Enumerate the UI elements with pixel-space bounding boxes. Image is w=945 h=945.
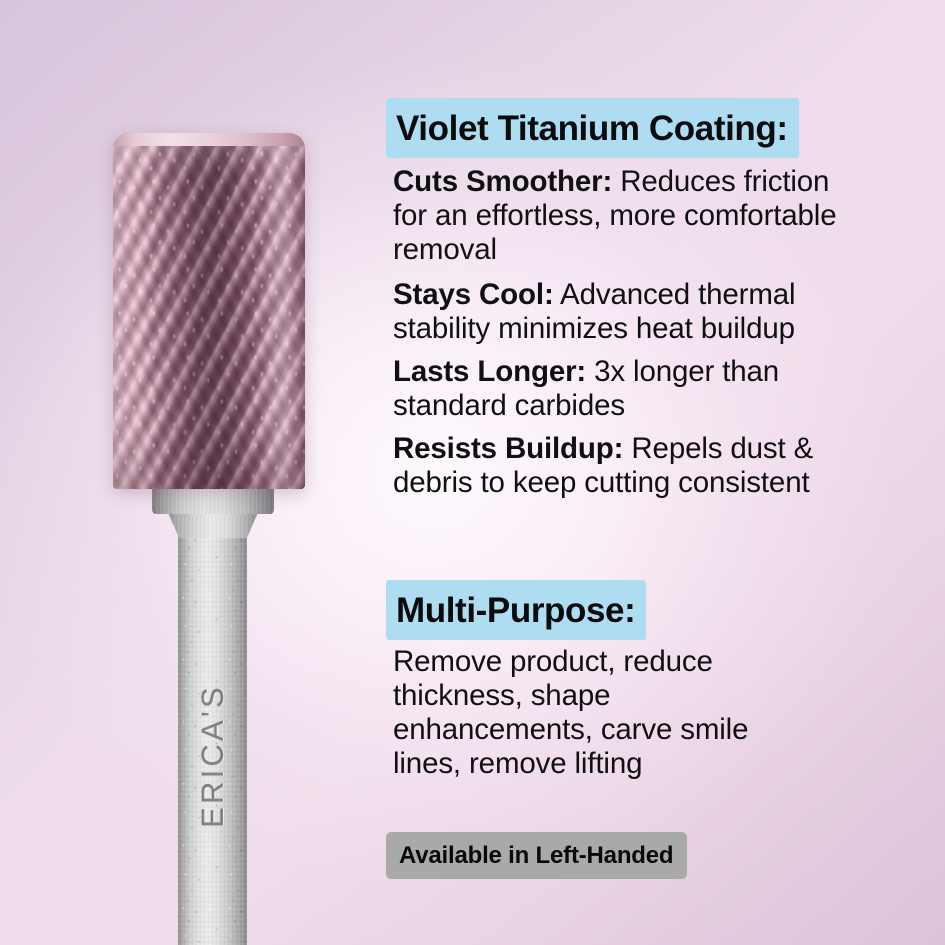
bullet-label: Lasts Longer: — [393, 355, 586, 388]
text-column: Violet Titanium Coating: Cuts Smoother: … — [386, 0, 886, 945]
bullet-label: Stays Cool: — [393, 278, 554, 311]
heading-multi-purpose: Multi-Purpose: — [386, 580, 646, 640]
multi-purpose-body-text: Remove product, reduce thickness, shape … — [393, 645, 813, 781]
head-top-cap — [113, 133, 305, 146]
infographic-canvas: ERICA'S Violet Titanium Coating: Cuts Sm… — [0, 0, 945, 945]
bullet-label: Resists Buildup: — [393, 432, 623, 465]
product-image: ERICA'S — [0, 0, 390, 945]
bullet-resists-buildup: Resists Buildup: Repels dust & debris to… — [393, 432, 861, 500]
bullet-cuts-smoother: Cuts Smoother: Reduces friction for an e… — [393, 165, 861, 266]
status-badge-left-handed: Available in Left-Handed — [386, 832, 687, 879]
bullet-lasts-longer: Lasts Longer: 3x longer than standard ca… — [393, 355, 861, 423]
bullet-label: Cuts Smoother: — [393, 165, 612, 198]
bullet-stays-cool: Stays Cool: Advanced thermal stability m… — [393, 278, 861, 346]
shank-speckle-texture — [178, 470, 247, 945]
bit-head — [113, 133, 305, 489]
bit-shank: ERICA'S — [178, 470, 247, 945]
heading-violet-titanium-coating: Violet Titanium Coating: — [386, 98, 799, 158]
head-vignette — [113, 133, 305, 489]
